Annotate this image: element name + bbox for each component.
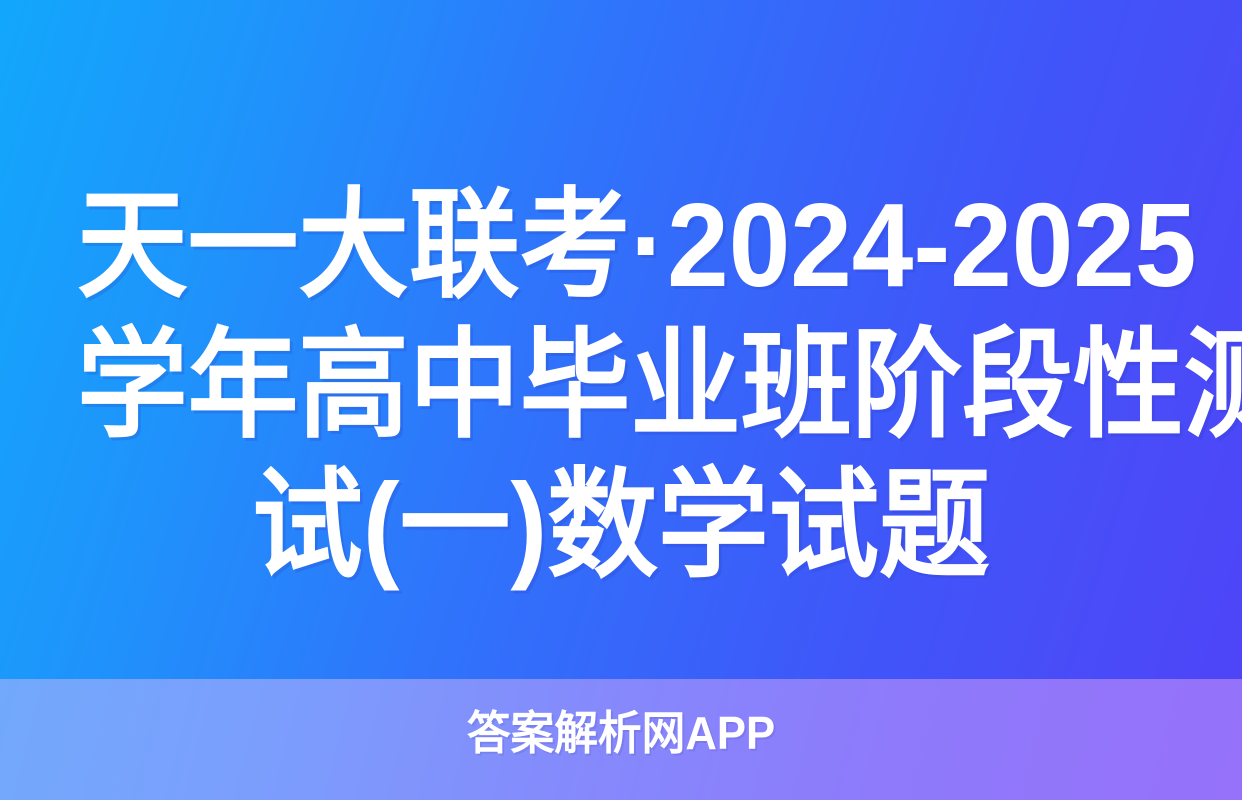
poster-canvas: 天一大联考·2024-2025 学年高中毕业班阶段性测 试(一)数学试题 答案解… — [0, 0, 1242, 800]
title-line-3: 试(一)数学试题 — [77, 456, 1165, 596]
poster-title: 天一大联考·2024-2025 学年高中毕业班阶段性测 试(一)数学试题 — [0, 176, 1242, 596]
title-line-2: 学年高中毕业班阶段性测 — [77, 316, 1165, 456]
footer-brand-label: 答案解析网APP — [31, 703, 1211, 763]
title-line-1: 天一大联考·2024-2025 — [77, 176, 1165, 316]
